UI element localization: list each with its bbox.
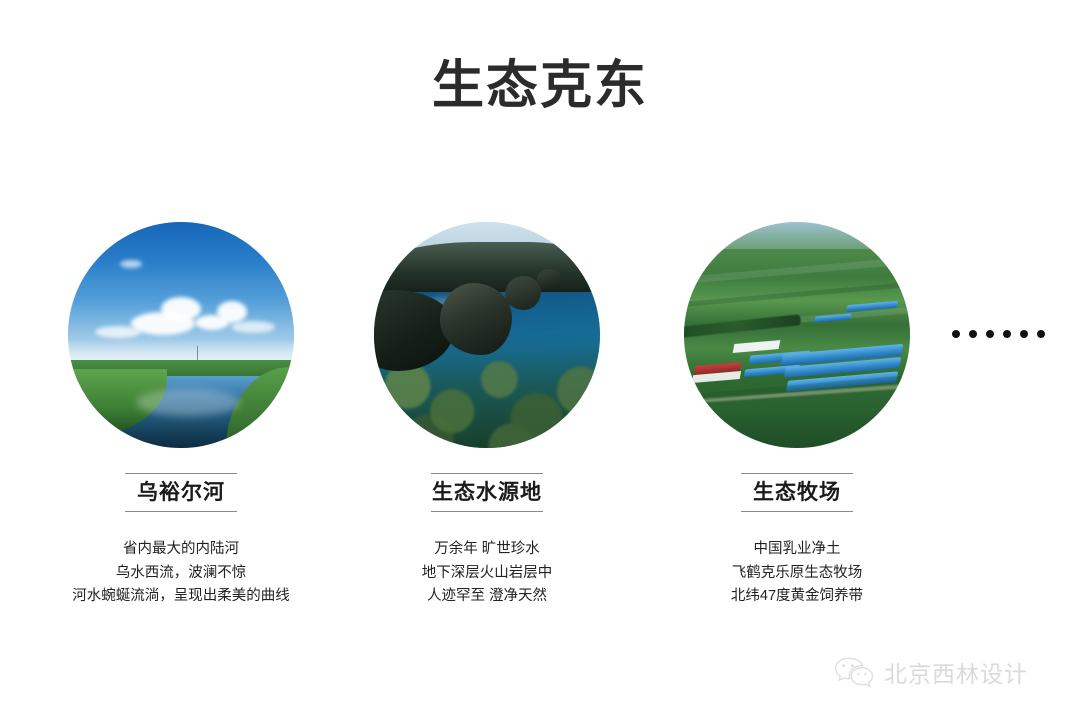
ellipsis-dot (986, 330, 994, 338)
ellipsis-dot (1020, 330, 1028, 338)
heading-rule-bottom (431, 511, 543, 512)
heading-rule-bottom (125, 511, 237, 512)
column-heading-block-3: 生态牧场 (739, 473, 855, 512)
wechat-icon (832, 655, 876, 689)
heading-rule-top (125, 473, 237, 474)
heading-rule-top (741, 473, 853, 474)
volcanic-rock (537, 269, 562, 289)
column-heading-block-1: 乌裕尔河 (123, 473, 239, 512)
feature-columns: 乌裕尔河 省内最大的内陆河 乌水西流，波澜不惊 河水蜿蜒流淌，呈现出柔美的曲线 (0, 222, 1080, 642)
body-line: 中国乳业净土 (647, 538, 947, 561)
page-title: 生态克东 (0, 56, 1080, 117)
eco-pasture-photo (684, 222, 910, 448)
ellipsis-dot (969, 330, 977, 338)
eco-water-source-photo (374, 222, 600, 448)
ellipsis-dot (952, 330, 960, 338)
heading-rule-bottom (741, 511, 853, 512)
column-body-1: 省内最大的内陆河 乌水西流，波澜不惊 河水蜿蜒流淌，呈现出柔美的曲线 (31, 538, 331, 608)
column-heading: 乌裕尔河 (125, 479, 237, 507)
body-line: 万余年 旷世珍水 (337, 538, 637, 561)
more-items-ellipsis (952, 330, 1045, 338)
watermark-text: 北京西林设计 (884, 655, 1028, 689)
cloud-shape (161, 297, 201, 321)
photo-artwork-2 (374, 222, 600, 448)
body-line: 河水蜿蜒流淌，呈现出柔美的曲线 (31, 585, 331, 608)
body-line: 乌水西流，波澜不惊 (31, 562, 331, 585)
photo-artwork-1 (68, 222, 294, 448)
ellipsis-dot (1037, 330, 1045, 338)
feature-column-3: 生态牧场 中国乳业净土 飞鹤克乐原生态牧场 北纬47度黄金饲养带 (647, 222, 947, 609)
body-line: 地下深层火山岩层中 (337, 562, 637, 585)
body-line: 人迹罕至 澄净天然 (337, 585, 637, 608)
feature-column-1: 乌裕尔河 省内最大的内陆河 乌水西流，波澜不惊 河水蜿蜒流淌，呈现出柔美的曲线 (31, 222, 331, 609)
column-body-3: 中国乳业净土 飞鹤克乐原生态牧场 北纬47度黄金饲养带 (647, 538, 947, 608)
column-body-2: 万余年 旷世珍水 地下深层火山岩层中 人迹罕至 澄净天然 (337, 538, 637, 608)
feature-column-2: 生态水源地 万余年 旷世珍水 地下深层火山岩层中 人迹罕至 澄净天然 (337, 222, 637, 609)
photo-artwork-3 (684, 222, 910, 448)
wuyuer-river-photo (68, 222, 294, 448)
column-heading-block-2: 生态水源地 (429, 473, 545, 512)
slide-canvas: 生态克东 (0, 0, 1080, 721)
body-line: 北纬47度黄金饲养带 (647, 585, 947, 608)
body-line: 飞鹤克乐原生态牧场 (647, 562, 947, 585)
watermark: 北京西林设计 (832, 655, 1028, 689)
ellipsis-dot (1003, 330, 1011, 338)
column-heading: 生态牧场 (741, 479, 853, 507)
column-heading: 生态水源地 (431, 479, 543, 507)
body-line: 省内最大的内陆河 (31, 538, 331, 561)
heading-rule-top (431, 473, 543, 474)
